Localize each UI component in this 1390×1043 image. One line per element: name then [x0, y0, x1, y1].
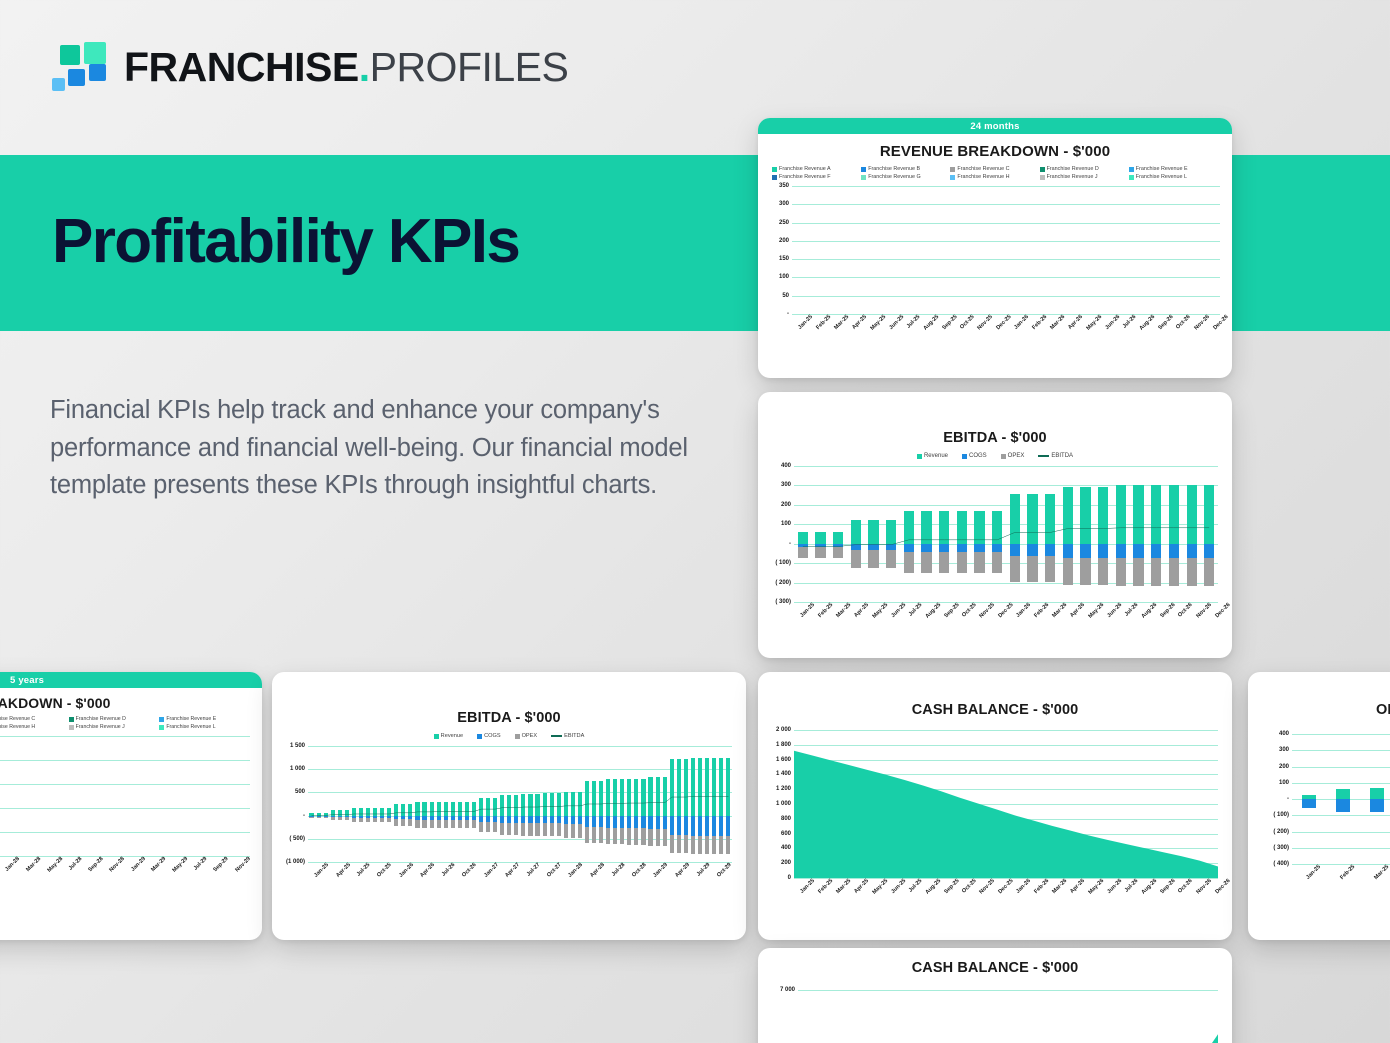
logo-square-blue-1	[68, 69, 85, 86]
bar-series	[792, 186, 1220, 314]
legend-label: Franchise Revenue G	[868, 174, 920, 180]
y-axis-tick-label: 100	[1279, 780, 1289, 786]
chart-title-cash-balance-24m: CASH BALANCE - $'000	[758, 702, 1232, 718]
x-axis-tick-label: Oct-25	[961, 878, 978, 895]
legend-label: Franchise Revenue A	[779, 166, 831, 172]
y-axis-tick-label: ( 300)	[775, 599, 791, 605]
card-ebitda-5y[interactable]: EBITDA - $'000 RevenueCOGSOPEXEBITDA 1 5…	[272, 672, 746, 940]
x-axis-tick-label: Nov-29	[234, 856, 251, 873]
legend-swatch-icon	[861, 175, 866, 180]
x-axis-tick-label: Mar-29	[151, 856, 168, 873]
legend-label: Franchise Revenue C	[0, 716, 35, 722]
ebitda-line	[794, 466, 1218, 602]
y-axis-tick-label: 1 600	[776, 757, 791, 763]
legend-item: Franchise Revenue C	[0, 716, 69, 722]
bar-series	[1292, 734, 1390, 864]
x-axis-tick-label: Mar-25	[835, 878, 852, 895]
legend-item: Franchise Revenue C	[950, 166, 1039, 172]
x-axis-tick-label: Apr-25	[851, 314, 868, 331]
legend-label: Franchise Revenue H	[0, 724, 35, 730]
x-axis-tick-label: Sep-26	[1159, 602, 1176, 619]
legend-label: EBITDA	[1051, 453, 1073, 459]
legend-item: Franchise Revenue J	[69, 724, 160, 730]
legend-item: Revenue	[917, 453, 948, 459]
legend-swatch-icon	[69, 725, 74, 730]
card-opex[interactable]: OPE 400300200100-( 100)( 200)( 300)( 400…	[1248, 672, 1390, 940]
x-axis: Jan-25Feb-25Mar-25Apr-25May-25Jun-25Jul-…	[792, 314, 1220, 320]
bar-segment-negative	[1336, 799, 1350, 812]
bar	[1370, 734, 1384, 864]
legend-label: Franchise Revenue J	[1047, 174, 1098, 180]
legend-swatch-icon	[477, 734, 482, 739]
brand-name-light: PROFILES	[370, 44, 569, 90]
x-axis-tick-label: Apr-25	[853, 878, 870, 895]
x-axis-tick-label: Sep-29	[213, 856, 230, 873]
y-axis-tick-label: ( 200)	[1273, 829, 1289, 835]
x-axis-tick-label: Jan-25	[1305, 864, 1322, 881]
legend-swatch-icon	[1001, 454, 1006, 459]
x-axis: Jan-25Feb-25Mar-25Apr-25May-25Jun-25Jul-…	[1292, 864, 1390, 870]
legend-swatch-icon	[917, 454, 922, 459]
x-axis-tick-label: Apr-29	[674, 862, 691, 879]
x-axis-tick-label: May-26	[1088, 602, 1106, 620]
x-axis-tick-label: Oct-28	[631, 862, 648, 879]
legend-item: COGS	[962, 453, 987, 459]
x-axis-tick-label: Sep-25	[941, 314, 958, 331]
x-axis-tick-label: Aug-26	[1141, 878, 1159, 896]
y-axis-tick-label: ( 500)	[289, 836, 305, 842]
legend-label: Franchise Revenue E	[1136, 166, 1188, 172]
legend-swatch-icon	[962, 454, 967, 459]
ebitda-line	[308, 746, 732, 862]
card-ebitda-24m[interactable]: EBITDA - $'000 RevenueCOGSOPEXEBITDA 400…	[758, 392, 1232, 658]
y-axis-tick-label: 1 800	[776, 742, 791, 748]
x-axis-tick-label: Aug-25	[922, 314, 940, 332]
y-axis-tick-label: ( 200)	[775, 580, 791, 586]
legend-label: COGS	[969, 453, 987, 459]
card-revenue-breakdown-5y[interactable]: 5 years REAKDOWN - $'000 Franchise Reven…	[0, 672, 262, 940]
logo-square-teal-dark	[60, 45, 80, 65]
legend-swatch-icon	[772, 167, 777, 172]
x-axis-tick-label: Apr-26	[1067, 314, 1084, 331]
y-axis-tick-label: 400	[781, 845, 791, 851]
y-axis-tick-label: 150	[779, 256, 789, 262]
x-axis: Jan-25Feb-25Mar-25Apr-25May-25Jun-25Jul-…	[794, 602, 1218, 608]
x-axis-tick-label: Oct-26	[1178, 602, 1195, 619]
y-axis-tick-label: 1 000	[776, 801, 791, 807]
x-axis-tick-label: Jun-26	[1104, 314, 1121, 331]
y-axis-tick-label: 250	[779, 220, 789, 226]
y-axis-tick-label: 1 000	[290, 766, 305, 772]
chart-legend-ebitda-24m: RevenueCOGSOPEXEBITDA	[758, 453, 1232, 459]
y-axis-tick-label: 1 400	[776, 771, 791, 777]
legend-item: Franchise Revenue D	[69, 716, 160, 722]
x-axis-tick-label: Mar-25	[833, 314, 850, 331]
legend-item: Franchise Revenue F	[772, 174, 861, 180]
legend-label: Franchise Revenue F	[779, 174, 831, 180]
y-axis-tick-label: -	[787, 311, 789, 317]
x-axis-tick-label: Oct-29	[716, 862, 733, 879]
chart-title-ebitda-24m: EBITDA - $'000	[758, 430, 1232, 446]
x-axis-tick-label: Oct-25	[377, 862, 394, 879]
x-axis-tick-label: May-26	[1088, 878, 1106, 896]
x-axis-tick-label: Jul-26	[441, 862, 457, 878]
y-axis-tick-label: -	[789, 541, 791, 547]
legend-label: Franchise Revenue L	[166, 724, 215, 730]
x-axis-tick-label: Feb-26	[1033, 602, 1050, 619]
x-axis-tick-label: Aug-26	[1139, 314, 1157, 332]
legend-label: Franchise Revenue J	[76, 724, 125, 730]
x-axis-tick-label: Apr-26	[1069, 602, 1086, 619]
x-axis-tick-label: Sep-26	[1157, 314, 1174, 331]
x-axis-tick-label: Feb-26	[1033, 878, 1050, 895]
page-title: Profitability KPIs	[52, 211, 519, 273]
x-axis-tick-label: Sep-25	[943, 602, 960, 619]
legend-item: Franchise Revenue L	[159, 724, 250, 730]
legend-swatch-icon	[772, 175, 777, 180]
x-axis-tick-label: Jul-26	[1124, 878, 1140, 894]
x-axis-tick-label: Jun-26	[1106, 878, 1123, 895]
y-axis-tick-label: 200	[779, 238, 789, 244]
bar-segment-positive	[1336, 789, 1350, 799]
y-axis-tick-label: 200	[1279, 764, 1289, 770]
logo-square-blue-2	[89, 64, 106, 81]
x-axis-tick-label: Jan-25	[797, 314, 814, 331]
x-axis-tick-label: Aug-26	[1141, 602, 1159, 620]
chart-title-ebitda-5y: EBITDA - $'000	[272, 710, 746, 726]
plot-revenue-breakdown-24m: 35030025020015010050-Jan-25Feb-25Mar-25A…	[792, 186, 1220, 314]
y-axis-tick-label: 350	[779, 183, 789, 189]
x-axis-tick-label: Nov-26	[1195, 878, 1212, 895]
legend-label: Franchise Revenue E	[166, 716, 216, 722]
x-axis-tick-label: Feb-25	[815, 314, 832, 331]
legend-swatch-icon	[69, 717, 74, 722]
legend-label: COGS	[484, 733, 500, 739]
legend-label: OPEX	[1008, 453, 1025, 459]
card-cash-balance-5y[interactable]: CASH BALANCE - $'000 7 0006 0005 000	[758, 948, 1232, 1043]
legend-label: Revenue	[924, 453, 948, 459]
x-axis-tick-label: Oct-26	[461, 862, 478, 879]
y-axis-tick-label: 300	[779, 201, 789, 207]
x-axis-tick-label: Apr-26	[420, 862, 437, 879]
plot-revenue-breakdown-5y: Jan-27Mar-27May-27Jul-27Sep-27Nov-27Jan-…	[0, 736, 250, 856]
x-axis-tick-label: Oct-25	[961, 602, 978, 619]
y-axis-tick-label: ( 400)	[1273, 861, 1289, 867]
legend-item: Franchise Revenue B	[861, 166, 950, 172]
logo-square-blue-light	[52, 78, 65, 91]
x-axis-tick-label: Sep-25	[943, 878, 960, 895]
bar-series	[0, 736, 250, 856]
legend-swatch-icon	[1040, 167, 1045, 172]
x-axis: Jan-25Feb-25Mar-25Apr-25May-25Jun-25Jul-…	[794, 878, 1218, 884]
y-axis-tick-label: 800	[781, 816, 791, 822]
y-axis-tick-label: 200	[781, 860, 791, 866]
x-axis-tick-label: Jan-25	[799, 602, 816, 619]
y-axis-tick-label: 7 000	[780, 987, 795, 993]
x-axis-tick-label: May-25	[869, 314, 887, 332]
x-axis-tick-label: Jan-29	[652, 862, 669, 879]
y-axis-tick-label: ( 300)	[1273, 845, 1289, 851]
x-axis-tick-label: Jan-25	[799, 878, 816, 895]
ribbon-24-months: 24 months	[758, 118, 1232, 134]
x-axis-tick-label: Jan-25	[313, 862, 330, 879]
y-axis-tick-label: 500	[295, 789, 305, 795]
bar-segment-negative	[1370, 799, 1384, 812]
legend-item: OPEX	[515, 733, 538, 739]
legend-item: Franchise Revenue J	[1040, 174, 1129, 180]
legend-label: Franchise Revenue B	[868, 166, 920, 172]
legend-swatch-icon	[434, 734, 439, 739]
x-axis-tick-label: Feb-25	[1339, 864, 1356, 881]
legend-item: EBITDA	[551, 733, 584, 739]
plot-cash-balance-5y: 7 0006 0005 000	[798, 990, 1218, 1043]
y-axis-tick-label: 100	[781, 521, 791, 527]
card-cash-balance-24m[interactable]: CASH BALANCE - $'000 2 0001 8001 6001 40…	[758, 672, 1232, 940]
legend-swatch-icon	[861, 167, 866, 172]
y-axis-tick-label: ( 100)	[1273, 812, 1289, 818]
legend-label: EBITDA	[564, 733, 584, 739]
x-axis-tick-label: Sep-28	[87, 856, 104, 873]
x-axis-tick-label: Feb-26	[1031, 314, 1048, 331]
legend-label: OPEX	[522, 733, 538, 739]
brand-dot: .	[359, 44, 370, 90]
x-axis-tick-label: Feb-25	[817, 602, 834, 619]
legend-item: Franchise Revenue A	[772, 166, 861, 172]
chart-title-revenue-breakdown-24m: REVENUE BREAKDOWN - $'000	[758, 143, 1232, 160]
y-axis-tick-label: 300	[1279, 747, 1289, 753]
y-axis-tick-label: ( 100)	[775, 560, 791, 566]
plot-opex: 400300200100-( 100)( 200)( 300)( 400)Jan…	[1292, 734, 1390, 864]
legend-item: Franchise Revenue E	[159, 716, 250, 722]
legend-item: EBITDA	[1038, 453, 1073, 459]
x-axis-tick-label: May-29	[172, 856, 190, 874]
x-axis-tick-label: Mar-25	[835, 602, 852, 619]
y-axis-tick-label: 300	[781, 482, 791, 488]
chart-title-opex: OPE	[1248, 702, 1390, 718]
x-axis-tick-label: Jan-27	[483, 862, 500, 879]
legend-item: COGS	[477, 733, 500, 739]
legend-swatch-icon	[1038, 455, 1049, 457]
legend-item: Franchise Revenue H	[950, 174, 1039, 180]
plot-ebitda-5y: 1 5001 000500-( 500)(1 000)Jan-25Apr-25J…	[308, 746, 732, 862]
chart-legend-revenue-breakdown-5y: Franchise Revenue CFranchise Revenue DFr…	[0, 716, 250, 730]
y-axis-tick-label: 100	[779, 274, 789, 280]
x-axis-tick-label: Nov-25	[979, 602, 996, 619]
legend-item: Revenue	[434, 733, 463, 739]
legend-swatch-icon	[515, 734, 520, 739]
x-axis-tick-label: Apr-27	[504, 862, 521, 879]
x-axis-tick-label: Oct-26	[1178, 878, 1195, 895]
x-axis-tick-label: Jul-28	[68, 856, 84, 872]
x-axis-tick-label: Jul-25	[905, 314, 921, 330]
legend-item: Franchise Revenue H	[0, 724, 69, 730]
y-axis-tick-label: -	[303, 813, 305, 819]
logo-square-teal-light	[84, 42, 106, 64]
x-axis-tick-label: Jul-29	[193, 856, 209, 872]
x-axis-tick-label: Oct-25	[959, 314, 976, 331]
bar	[1302, 734, 1316, 864]
x-axis-tick-label: May-26	[1086, 314, 1104, 332]
x-axis-tick-label: Mar-26	[1052, 602, 1069, 619]
legend-label: Franchise Revenue D	[1047, 166, 1099, 172]
x-axis-tick-label: Jul-26	[1124, 602, 1140, 618]
y-axis-tick-label: 200	[781, 502, 791, 508]
logo-squares-icon	[48, 42, 106, 92]
x-axis-tick-label: Jun-26	[1106, 602, 1123, 619]
x-axis-tick-label: Sep-26	[1159, 878, 1176, 895]
brand-logo: FRANCHISE.PROFILES	[48, 42, 568, 92]
x-axis-tick-label: Jan-26	[398, 862, 415, 879]
legend-item: OPEX	[1001, 453, 1025, 459]
plot-ebitda-24m: 400300200100-( 100)( 200)( 300)Jan-25Feb…	[794, 466, 1218, 602]
x-axis-tick-label: Aug-25	[924, 602, 942, 620]
legend-label: Franchise Revenue C	[957, 166, 1009, 172]
x-axis-tick-label: Jun-25	[888, 314, 905, 331]
brand-name-bold: FRANCHISE	[124, 44, 359, 90]
brand-wordmark: FRANCHISE.PROFILES	[124, 47, 568, 88]
legend-item: Franchise Revenue D	[1040, 166, 1129, 172]
bar	[1336, 734, 1350, 864]
x-axis-tick-label: Mar-26	[1052, 878, 1069, 895]
chart-title-revenue-breakdown-5y: REAKDOWN - $'000	[0, 695, 262, 711]
x-axis-tick-label: Apr-26	[1069, 878, 1086, 895]
x-axis-tick-label: Mar-26	[1050, 314, 1067, 331]
chart-legend-revenue-breakdown-24m: Franchise Revenue AFranchise Revenue BFr…	[772, 166, 1218, 180]
legend-swatch-icon	[1040, 175, 1045, 180]
y-axis-tick-label: -	[1287, 796, 1289, 802]
area-path	[794, 730, 1218, 878]
legend-label: Franchise Revenue L	[1136, 174, 1187, 180]
x-axis-tick-label: Jan-26	[1014, 314, 1031, 331]
x-axis-tick-label: May-28	[47, 856, 65, 874]
legend-item: Franchise Revenue L	[1129, 174, 1218, 180]
x-axis-tick-label: Jan-26	[1016, 602, 1033, 619]
x-axis-tick-label: Feb-25	[817, 878, 834, 895]
x-axis-tick-label: Jun-25	[890, 602, 907, 619]
x-axis-tick-label: Mar-25	[1373, 864, 1390, 881]
card-revenue-breakdown-24m[interactable]: 24 months REVENUE BREAKDOWN - $'000 Fran…	[758, 118, 1232, 378]
x-axis: Jan-25Apr-25Jul-25Oct-25Jan-26Apr-26Jul-…	[308, 862, 732, 868]
x-axis-tick-label: Jul-27	[526, 862, 542, 878]
x-axis-tick-label: Jan-26	[1016, 878, 1033, 895]
bar-segment-positive	[1370, 788, 1384, 799]
legend-label: Franchise Revenue H	[957, 174, 1009, 180]
legend-swatch-icon	[1129, 167, 1134, 172]
x-axis-tick-label: Nov-25	[979, 878, 996, 895]
chart-title-cash-balance-5y: CASH BALANCE - $'000	[758, 960, 1232, 976]
chart-legend-ebitda-5y: RevenueCOGSOPEXEBITDA	[272, 733, 746, 739]
legend-swatch-icon	[950, 167, 955, 172]
x-axis-tick-label: Dec-25	[997, 602, 1014, 619]
x-axis-tick-label: Dec-26	[1212, 314, 1229, 331]
y-axis-tick-label: (1 000)	[286, 859, 305, 865]
x-axis-tick-label: Jul-29	[695, 862, 711, 878]
x-axis-tick-label: Jul-25	[907, 878, 923, 894]
x-axis-tick-label: Nov-25	[977, 314, 994, 331]
x-axis-tick-label: Oct-26	[1176, 314, 1193, 331]
legend-swatch-icon	[950, 175, 955, 180]
legend-swatch-icon	[1129, 175, 1134, 180]
x-axis-tick-label: Jan-29	[130, 856, 147, 873]
x-axis-tick-label: Jul-28	[610, 862, 626, 878]
x-axis-tick-label: Apr-25	[853, 602, 870, 619]
x-axis-tick-label: Oct-27	[546, 862, 563, 879]
x-axis-tick-label: Dec-25	[997, 878, 1014, 895]
x-axis-tick-label: Dec-26	[1214, 602, 1231, 619]
legend-label: Revenue	[441, 733, 463, 739]
x-axis-tick-label: May-25	[871, 878, 889, 896]
x-axis-tick-label: Mar-28	[25, 856, 42, 873]
legend-item: Franchise Revenue E	[1129, 166, 1218, 172]
legend-swatch-icon	[159, 725, 164, 730]
y-axis-tick-label: 1 200	[776, 786, 791, 792]
plot-cash-balance-24m: 2 0001 8001 6001 4001 2001 0008006004002…	[794, 730, 1218, 878]
legend-label: Franchise Revenue D	[76, 716, 126, 722]
x-axis-tick-label: Dec-26	[1214, 878, 1231, 895]
y-axis-tick-label: 0	[788, 875, 791, 881]
x-axis-tick-label: Jun-25	[890, 878, 907, 895]
x-axis-tick-label: Nov-26	[1195, 602, 1212, 619]
y-axis-tick-label: 600	[781, 831, 791, 837]
x-axis-tick-label: Dec-25	[995, 314, 1012, 331]
x-axis-tick-label: May-25	[871, 602, 889, 620]
x-axis-tick-label: Jul-25	[907, 602, 923, 618]
x-axis-tick-label: Nov-28	[109, 856, 126, 873]
x-axis-tick-label: Jan-28	[5, 856, 22, 873]
bar-segment-negative	[1302, 799, 1316, 808]
legend-item: Franchise Revenue G	[861, 174, 950, 180]
x-axis: Jan-27Mar-27May-27Jul-27Sep-27Nov-27Jan-…	[0, 856, 250, 862]
ribbon-5-years: 5 years	[0, 672, 262, 688]
x-axis-tick-label: Nov-26	[1193, 314, 1210, 331]
area-path	[798, 990, 1218, 1043]
y-axis-tick-label: 400	[781, 463, 791, 469]
legend-swatch-icon	[551, 735, 562, 737]
y-axis-tick-label: 400	[1279, 731, 1289, 737]
x-axis-tick-label: Jul-25	[356, 862, 372, 878]
x-axis-tick-label: Apr-25	[335, 862, 352, 879]
x-axis-tick-label: Aug-25	[924, 878, 942, 896]
x-axis-tick-label: Jul-26	[1122, 314, 1138, 330]
intro-paragraph: Financial KPIs help track and enhance yo…	[50, 392, 710, 505]
x-axis-tick-label: Apr-28	[589, 862, 606, 879]
x-axis-tick-label: Jan-28	[568, 862, 585, 879]
y-axis-tick-label: 1 500	[290, 743, 305, 749]
legend-swatch-icon	[159, 717, 164, 722]
y-axis-tick-label: 50	[782, 293, 789, 299]
y-axis-tick-label: 2 000	[776, 727, 791, 733]
